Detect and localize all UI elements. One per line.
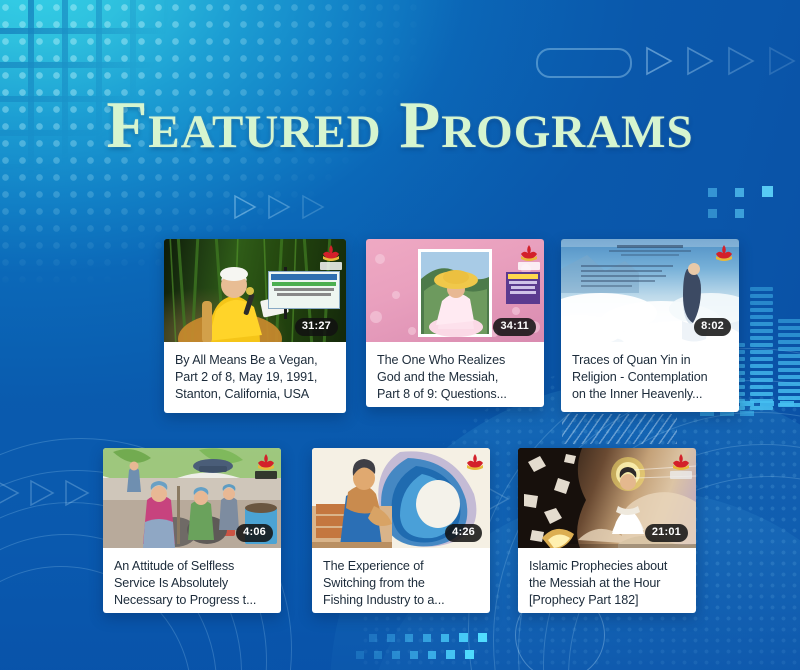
play-triangle-top-3 [726,45,756,77]
logo-subtitle-bar [518,262,540,270]
accent-square-tr-3 [762,186,773,197]
card-title-line: Necessary to Progress t... [114,592,270,609]
duration-badge: 4:06 [236,524,273,542]
card-title: The One Who Realizes God and the Messiah… [366,342,544,407]
card-thumbnail[interactable]: 31:27 [164,239,346,342]
program-card[interactable]: 8:02 Traces of Quan Yin in Religion - Co… [561,239,739,412]
program-card[interactable]: 21:01 Islamic Prophecies about the Messi… [518,448,696,613]
bottom-square-a6 [459,633,468,642]
logo-subtitle-bar [320,262,342,270]
card-title-line: the Messiah at the Hour [529,575,685,592]
lotus-logo-icon [255,451,277,471]
logo-subtitle-bar [670,471,692,479]
duration-badge: 8:02 [694,318,731,336]
card-title-line: Fishing Industry to a... [323,592,479,609]
diagonal-hatch-decor [562,414,677,444]
logo-subtitle-bar [255,471,277,479]
card-thumbnail[interactable]: 34:11 [366,239,544,342]
card-title-line: By All Means Be a Vegan, [175,352,335,369]
accent-square-tr-1 [708,188,717,197]
play-triangle-top-4 [767,45,797,77]
card-title: The Experience of Switching from the Fis… [312,548,490,613]
card-thumbnail[interactable]: 8:02 [561,239,739,342]
thumbnail-info-overlay [506,272,540,304]
program-card[interactable]: 4:26 The Experience of Switching from th… [312,448,490,613]
card-thumbnail[interactable]: 21:01 [518,448,696,548]
program-card[interactable]: 34:11 The One Who Realizes God and the M… [366,239,544,407]
thumbnail-info-overlay [268,271,340,309]
bottom-square-b3 [392,651,400,659]
card-title-line: Religion - Contemplation [572,369,728,386]
accent-square-tr-5 [735,209,744,218]
card-title-line: Islamic Prophecies about [529,558,685,575]
card-title-line: on the Inner Heavenly... [572,386,728,403]
card-title-line: The One Who Realizes [377,352,533,369]
pill-outline-decor [536,48,632,78]
bottom-square-a1 [369,634,377,642]
card-title: By All Means Be a Vegan, Part 2 of 8, Ma… [164,342,346,413]
bottom-square-a7 [478,633,487,642]
page-title: Featured Programs [0,92,800,159]
play-triangle-top-1 [644,45,674,77]
thumbnail-caption-text [591,245,709,257]
lotus-logo-icon [464,451,486,471]
bottom-square-b5 [428,651,436,659]
bottom-square-b1 [356,651,364,659]
program-card[interactable]: 31:27 By All Means Be a Vegan, Part 2 of… [164,239,346,413]
play-triangle-left-1 [0,478,21,508]
card-title: Islamic Prophecies about the Messiah at … [518,548,696,613]
bottom-square-b2 [374,651,382,659]
play-triangle-top-2 [685,45,715,77]
play-triangle-mid-2 [266,193,292,221]
play-triangle-left-3 [63,478,91,508]
card-title-line: Traces of Quan Yin in [572,352,728,369]
lotus-logo-icon [670,451,692,471]
card-title-line: Stanton, California, USA [175,386,335,403]
duration-badge: 34:11 [493,318,536,336]
bottom-square-b6 [446,650,455,659]
bottom-square-a4 [423,634,431,642]
card-title-line: God and the Messiah, [377,369,533,386]
card-title-line: Part 8 of 9: Questions... [377,386,533,403]
card-title: An Attitude of Selfless Service Is Absol… [103,548,281,613]
lotus-logo-icon [320,242,342,262]
duration-badge: 21:01 [645,524,688,542]
card-title-line: Service Is Absolutely [114,575,270,592]
duration-badge: 31:27 [295,318,338,336]
program-card[interactable]: 4:06 An Attitude of Selfless Service Is … [103,448,281,613]
card-title-line: Part 2 of 8, May 19, 1991, [175,369,335,386]
bottom-square-b4 [410,651,418,659]
card-title-line: An Attitude of Selfless [114,558,270,575]
lotus-logo-icon [713,242,735,262]
card-title-line: [Prophecy Part 182] [529,592,685,609]
card-thumbnail[interactable]: 4:26 [312,448,490,548]
card-title: Traces of Quan Yin in Religion - Contemp… [561,342,739,412]
duration-badge: 4:26 [445,524,482,542]
bottom-square-a5 [441,634,449,642]
lotus-logo-icon [518,242,540,262]
play-triangle-left-2 [28,478,56,508]
featured-programs-banner: Featured Programs [0,0,800,670]
bottom-square-b7 [465,650,474,659]
card-title-line: Switching from the [323,575,479,592]
accent-square-tr-4 [708,209,717,218]
card-thumbnail[interactable]: 4:06 [103,448,281,548]
card-title-line: The Experience of [323,558,479,575]
play-triangle-mid-1 [232,193,258,221]
accent-square-tr-2 [735,188,744,197]
bottom-square-a3 [405,634,413,642]
bottom-square-a2 [387,634,395,642]
play-triangle-mid-3 [300,193,326,221]
thumbnail-quote-block [581,265,673,287]
